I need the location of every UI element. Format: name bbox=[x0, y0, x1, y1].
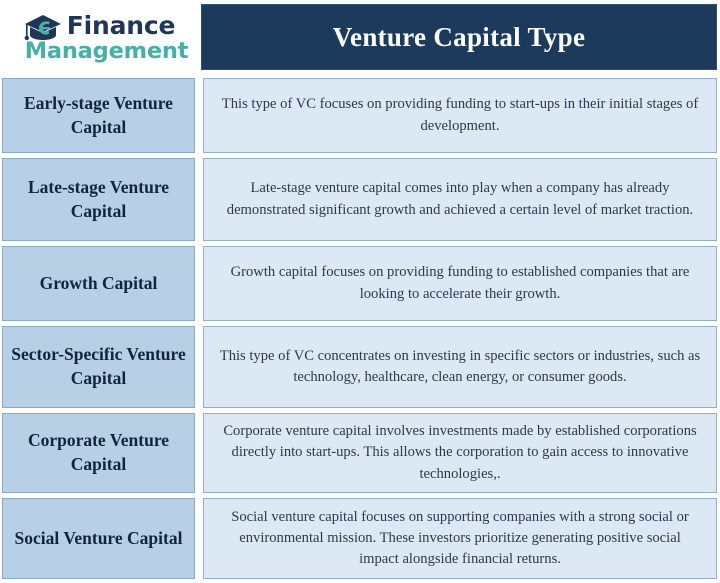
vc-type-label-text: Early-stage Venture Capital bbox=[9, 92, 188, 139]
vc-type-description: Social venture capital focuses on suppor… bbox=[203, 498, 717, 579]
vc-type-label: Growth Capital bbox=[2, 246, 195, 321]
table-row: Early-stage Venture Capital This type of… bbox=[0, 74, 720, 156]
header-title-cell: Venture Capital Type bbox=[201, 4, 717, 70]
vc-type-label: Late-stage Venture Capital bbox=[2, 158, 195, 241]
vc-type-label-text: Growth Capital bbox=[40, 272, 158, 296]
vc-type-label-text: Social Venture Capital bbox=[15, 527, 183, 551]
vc-type-description-text: This type of VC concentrates on investin… bbox=[218, 346, 702, 388]
header-row: Finance Management Venture Capital Type bbox=[0, 0, 720, 74]
vc-type-label-text: Sector-Specific Venture Capital bbox=[9, 343, 188, 390]
graduation-cap-icon bbox=[22, 11, 64, 41]
table-row: Corporate Venture Capital Corporate vent… bbox=[0, 411, 720, 496]
vc-type-description: Growth capital focuses on providing fund… bbox=[203, 246, 717, 321]
vc-type-label-text: Corporate Venture Capital bbox=[9, 429, 188, 476]
vc-type-description-text: This type of VC focuses on providing fun… bbox=[218, 94, 702, 136]
vc-type-label: Corporate Venture Capital bbox=[2, 413, 195, 493]
vc-type-label: Social Venture Capital bbox=[2, 498, 195, 579]
venture-capital-type-infographic: Finance Management Venture Capital Type … bbox=[0, 0, 720, 583]
vc-type-description: Late-stage venture capital comes into pl… bbox=[203, 158, 717, 241]
brand-word-management: Management bbox=[9, 39, 189, 64]
brand-logo: Finance Management bbox=[0, 0, 193, 74]
vc-type-description-text: Growth capital focuses on providing fund… bbox=[218, 262, 702, 304]
table-row: Social Venture Capital Social venture ca… bbox=[0, 496, 720, 583]
vc-type-description: This type of VC focuses on providing fun… bbox=[203, 78, 717, 153]
brand-logo-top-line: Finance bbox=[22, 11, 176, 41]
vc-type-label-text: Late-stage Venture Capital bbox=[9, 176, 188, 223]
vc-type-description-text: Corporate venture capital involves inves… bbox=[218, 421, 702, 484]
vc-type-description: This type of VC concentrates on investin… bbox=[203, 326, 717, 408]
vc-type-description-text: Social venture capital focuses on suppor… bbox=[218, 507, 702, 570]
brand-word-finance: Finance bbox=[67, 13, 176, 38]
table-row: Sector-Specific Venture Capital This typ… bbox=[0, 324, 720, 411]
vc-type-description: Corporate venture capital involves inves… bbox=[203, 413, 717, 493]
vc-type-label: Early-stage Venture Capital bbox=[2, 78, 195, 153]
table-row: Growth Capital Growth capital focuses on… bbox=[0, 244, 720, 324]
vc-type-label: Sector-Specific Venture Capital bbox=[2, 326, 195, 408]
table-row: Late-stage Venture Capital Late-stage ve… bbox=[0, 156, 720, 244]
vc-type-description-text: Late-stage venture capital comes into pl… bbox=[218, 178, 702, 220]
page-title: Venture Capital Type bbox=[333, 22, 586, 53]
